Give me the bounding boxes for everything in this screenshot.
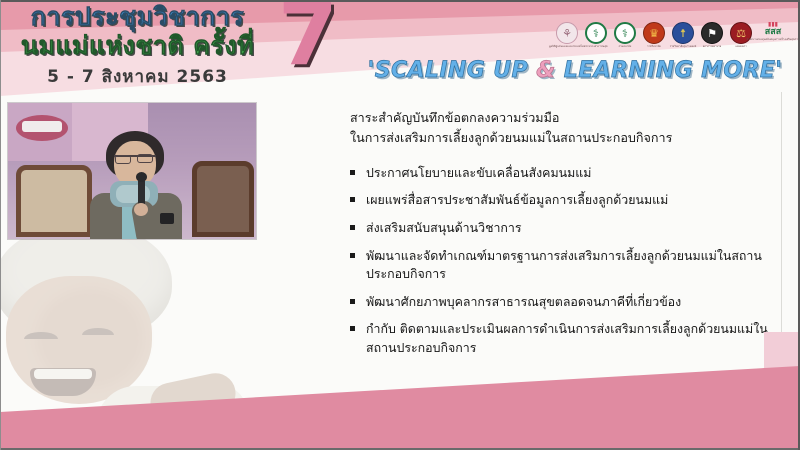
royal-college-pediatrics-icon: ☨ (672, 22, 694, 44)
slide-frame-left (0, 0, 1, 450)
speaker-figure (86, 131, 184, 239)
speaker-glasses-left-lens (115, 155, 131, 164)
slide-frame-top (0, 0, 800, 2)
list-item-label: พัฒนาและจัดทำเกณฑ์มาตรฐานการส่งเสริมการเ… (366, 248, 762, 282)
square-bullet-icon (350, 299, 355, 304)
list-item-label: ประกาศนโยบายและขับเคลื่อนสังคมนมแม่ (366, 165, 591, 180)
square-bullet-icon (350, 225, 355, 230)
slide-content: สาระสำคัญบันทึกข้อตกลงความร่วมมือ ในการส… (350, 108, 780, 367)
content-lead-line1: สาระสำคัญบันทึกข้อตกลงความร่วมมือ (350, 108, 780, 128)
thaihealth-wordmark: สสส (765, 27, 781, 37)
list-item: พัฒนาและจัดทำเกณฑ์มาตรฐานการส่งเสริมการเ… (350, 247, 780, 284)
ministry-of-public-health-logo: ⚕ กระทรวงสาธารณสุข (584, 22, 608, 54)
microphone-head-icon (136, 172, 147, 182)
backdrop-teeth-graphic (22, 121, 62, 132)
medical-council-caption: แพทยสภา (735, 45, 746, 49)
royal-college-pediatrics-logo: ☨ ราชวิทยาลัยกุมารแพทย์ (671, 22, 695, 54)
stage-chair-left (16, 165, 92, 237)
conference-title-line1: การประชุมวิชาการ (0, 4, 275, 31)
speaker-hand (134, 203, 148, 216)
thaihealth-caption: สำนักงานกองทุนสนับสนุนการสร้างเสริมสุขภา… (747, 38, 800, 42)
nursing-council-logo: ⚑ สภาการพยาบาล (700, 22, 724, 54)
list-item: ส่งเสริมสนับสนุนด้านวิชาการ (350, 219, 780, 238)
edition-number: 7 (278, 0, 338, 78)
conference-title-block: การประชุมวิชาการ นมแม่แห่งชาติ ครั้งที่ … (0, 4, 275, 90)
square-bullet-icon (350, 197, 355, 202)
conference-tagline: 'SCALING UP & LEARNING MORE' (360, 58, 790, 83)
ministry-of-public-health-caption: กระทรวงสาธารณสุข (584, 45, 607, 49)
thaihealth-icon: ▮▮▮ สสส (765, 22, 781, 37)
tagline-prefix: 'SCALING UP (368, 58, 537, 83)
breastfeeding-foundation-logo: ⚘ มูลนิธิศูนย์นมแม่แห่งประเทศไทย (555, 22, 579, 54)
department-of-health-icon: ⚕ (614, 22, 636, 44)
ministry-of-public-health-icon: ⚕ (585, 22, 607, 44)
nursing-council-icon: ⚑ (701, 22, 723, 44)
child-teeth (34, 369, 92, 379)
list-item: กำกับ ติดตามและประเมินผลการดำเนินการส่งเ… (350, 320, 780, 357)
content-bullet-list: ประกาศนโยบายและขับเคลื่อนสังคมนมแม่ เผยแ… (350, 164, 780, 358)
department-of-health-caption: กรมอนามัย (619, 45, 632, 49)
speaker-video-thumbnail[interactable] (8, 103, 256, 239)
speaker-glasses-right-lens (137, 154, 153, 163)
tagline-ampersand: & (536, 58, 556, 83)
tagline-suffix: LEARNING MORE' (556, 58, 783, 83)
royal-crest-icon: ♛ (643, 22, 665, 44)
slide-header: การประชุมวิชาการ นมแม่แห่งชาติ ครั้งที่ … (0, 0, 800, 92)
content-lead-line2: ในการส่งเสริมการเลี้ยงลูกด้วยนมแม่ในสถาน… (350, 128, 780, 148)
nursing-council-caption: สภาการพยาบาล (703, 45, 722, 49)
list-item-label: พัฒนาศักยภาพบุคลากรสาธารณสุขตลอดจนภาคีที… (366, 294, 681, 309)
child-right-eye (82, 328, 114, 335)
square-bullet-icon (350, 253, 355, 258)
child-left-eye (24, 332, 58, 339)
royal-crest-logo: ♛ ราชวิทยาลัย (642, 22, 666, 54)
conference-title-line2: นมแม่แห่งชาติ ครั้งที่ (0, 32, 275, 60)
content-lead: สาระสำคัญบันทึกข้อตกลงความร่วมมือ ในการส… (350, 108, 780, 149)
presentation-slide: การประชุมวิชาการ นมแม่แห่งชาติ ครั้งที่ … (0, 0, 800, 450)
thaihealth-logo: ▮▮▮ สสส สำนักงานกองทุนสนับสนุนการสร้างเส… (758, 22, 788, 54)
square-bullet-icon (350, 170, 355, 175)
list-item: ประกาศนโยบายและขับเคลื่อนสังคมนมแม่ (350, 164, 780, 183)
square-bullet-icon (350, 326, 355, 331)
stage-chair-right (192, 161, 254, 237)
royal-crest-caption: ราชวิทยาลัย (647, 45, 661, 49)
presenter-clicker-icon (160, 213, 174, 224)
breastfeeding-foundation-icon: ⚘ (556, 22, 578, 44)
department-of-health-logo: ⚕ กรมอนามัย (613, 22, 637, 54)
list-item: เผยแพร่สื่อสารประชาสัมพันธ์ข้อมูลการเลี้… (350, 191, 780, 210)
breastfeeding-foundation-caption: มูลนิธิศูนย์นมแม่แห่งประเทศไทย (549, 45, 585, 49)
organizer-logos: ⚘ มูลนิธิศูนย์นมแม่แห่งประเทศไทย ⚕ กระทร… (555, 22, 788, 54)
list-item-label: ส่งเสริมสนับสนุนด้านวิชาการ (366, 220, 522, 235)
list-item: พัฒนาศักยภาพบุคลากรสาธารณสุขตลอดจนภาคีที… (350, 293, 780, 312)
royal-college-pediatrics-caption: ราชวิทยาลัยกุมารแพทย์ (670, 45, 697, 49)
list-item-label: เผยแพร่สื่อสารประชาสัมพันธ์ข้อมูลการเลี้… (366, 192, 668, 207)
conference-date: 5 - 7 สิงหาคม 2563 (0, 63, 275, 90)
child-watermark-photo (0, 228, 262, 428)
list-item-label: กำกับ ติดตามและประเมินผลการดำเนินการส่งเ… (366, 321, 768, 355)
